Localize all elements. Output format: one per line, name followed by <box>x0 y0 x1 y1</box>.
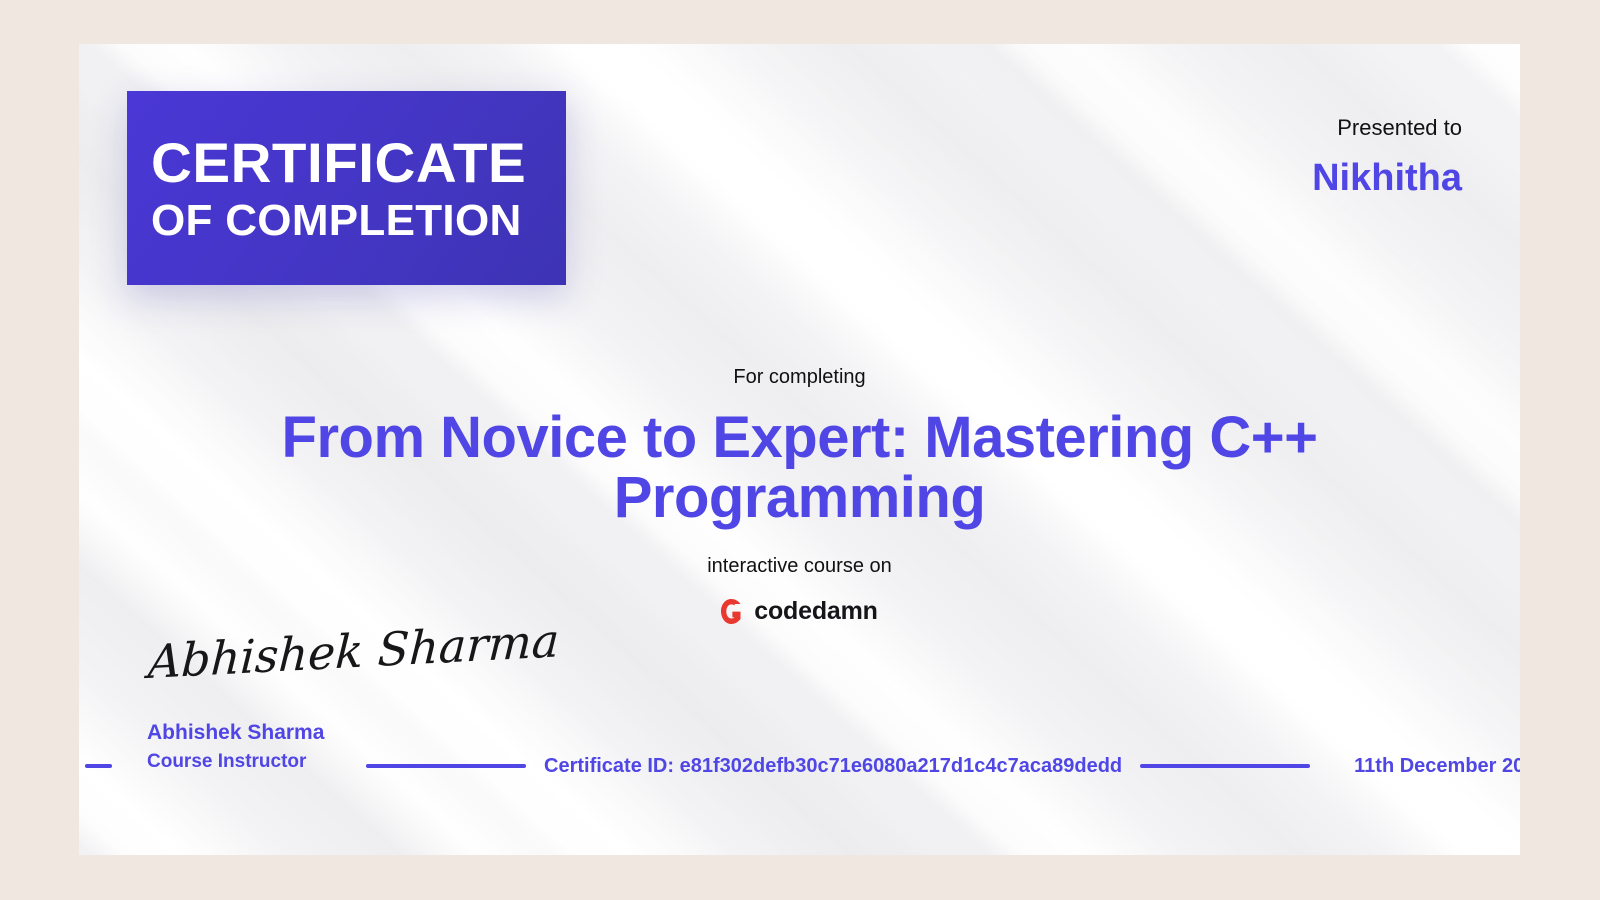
certificate-heading-primary: CERTIFICATE <box>151 136 546 191</box>
course-details-block: For completing From Novice to Expert: Ma… <box>79 364 1520 626</box>
codedamn-c-logo-icon <box>721 599 741 624</box>
handwritten-signature: Abhishek Sharma <box>147 617 560 685</box>
certificate-card: CERTIFICATE OF COMPLETION Presented to N… <box>79 44 1520 855</box>
footer-rule-right <box>1140 764 1310 768</box>
brand-row: codedamn <box>169 597 1430 626</box>
instructor-name: Abhishek Sharma <box>147 719 559 747</box>
certificate-heading-secondary: OF COMPLETION <box>151 197 542 245</box>
certificate-date: 11th December 2023 <box>1332 755 1520 778</box>
presented-to-label: Presented to <box>1312 114 1462 143</box>
interactive-course-label: interactive course on <box>169 553 1430 579</box>
certificate-content: CERTIFICATE OF COMPLETION Presented to N… <box>79 44 1520 855</box>
footer-meta-row: Certificate ID: e81f302defb30c71e6080a21… <box>79 756 1520 776</box>
brand-name: codedamn <box>754 597 877 626</box>
for-completing-label: For completing <box>169 364 1430 390</box>
footer-rule-left <box>366 764 526 768</box>
certificate-title-badge: CERTIFICATE OF COMPLETION <box>127 91 566 285</box>
footer-dash-left <box>85 764 112 768</box>
recipient-name: Nikhitha <box>1312 153 1462 204</box>
presented-to-block: Presented to Nikhitha <box>1312 114 1462 204</box>
course-title: From Novice to Expert: Mastering C++ Pro… <box>169 408 1430 529</box>
certificate-id: Certificate ID: e81f302defb30c71e6080a21… <box>526 755 1140 778</box>
